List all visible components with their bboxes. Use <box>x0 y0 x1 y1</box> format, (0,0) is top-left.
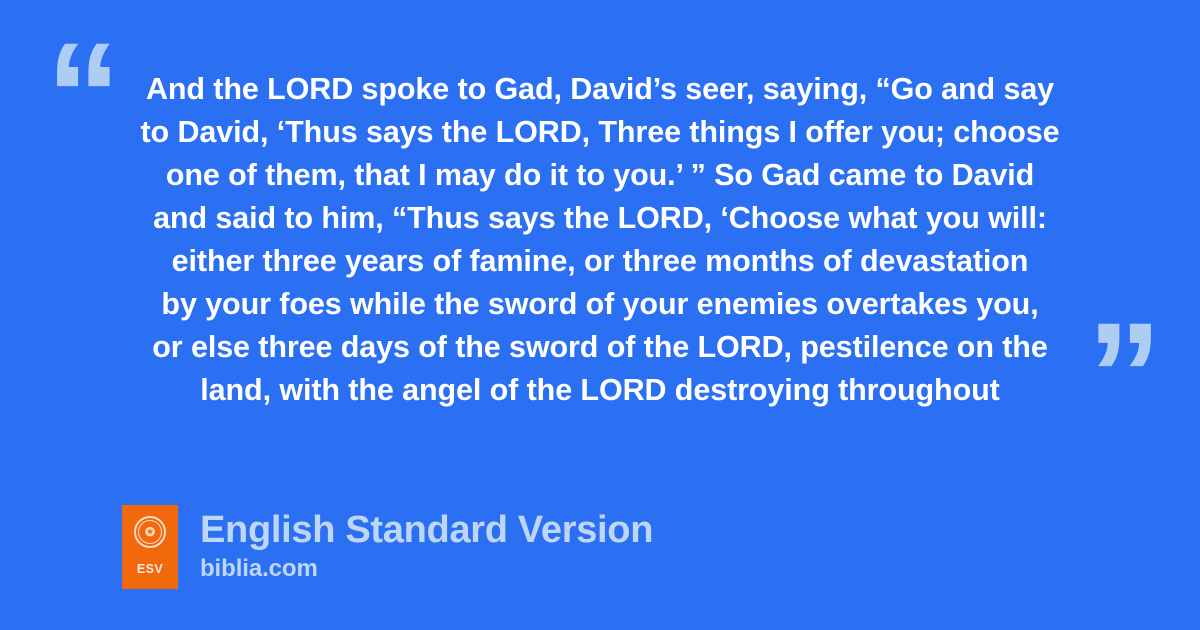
quote-line: by your foes while the sword of your ene… <box>100 283 1100 326</box>
quote-line: either three years of famine, or three m… <box>100 240 1100 283</box>
quote-line: And the LORD spoke to Gad, David’s seer,… <box>100 68 1100 111</box>
quote-line: or else three days of the sword of the L… <box>100 326 1100 369</box>
footer-text-group: English Standard Version biblia.com <box>200 505 653 584</box>
source-url: biblia.com <box>200 554 653 584</box>
closing-quote-icon: ” <box>1087 300 1160 450</box>
footer-attribution: ✪ ESV English Standard Version biblia.co… <box>122 505 653 589</box>
quote-line: to David, ‘Thus says the LORD, Three thi… <box>100 111 1100 154</box>
esv-logo-tile: ✪ ESV <box>122 505 178 589</box>
quote-line: one of them, that I may do it to you.’ ”… <box>100 154 1100 197</box>
bible-version-title: English Standard Version <box>200 507 653 553</box>
seal-glyph: ✪ <box>145 526 155 538</box>
quote-card: “ And the LORD spoke to Gad, David’s see… <box>0 0 1200 630</box>
quote-line: land, with the angel of the LORD destroy… <box>100 369 1100 412</box>
quote-line: and said to him, “Thus says the LORD, ‘C… <box>100 197 1100 240</box>
quote-text-block: And the LORD spoke to Gad, David’s seer,… <box>100 68 1100 412</box>
seal-icon: ✪ <box>134 516 166 548</box>
esv-badge-label: ESV <box>122 562 178 576</box>
